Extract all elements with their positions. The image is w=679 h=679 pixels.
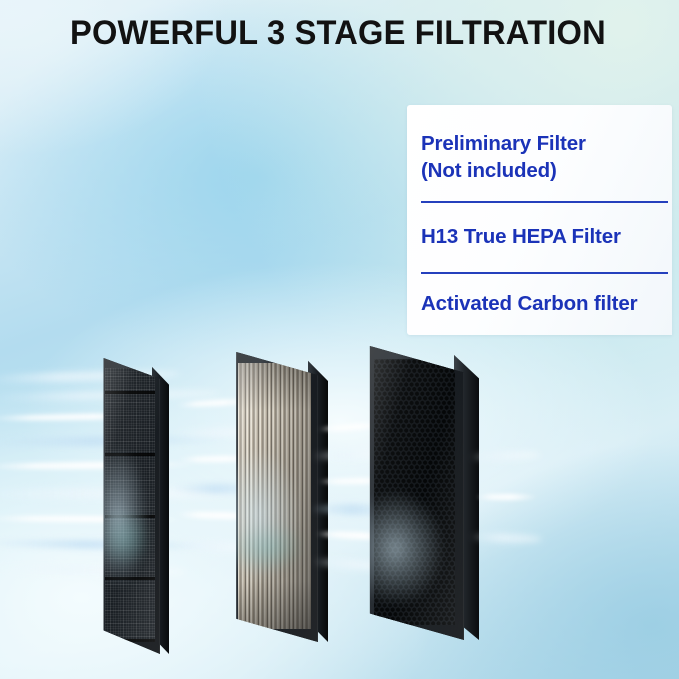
page-title: POWERFUL 3 STAGE FILTRATION (70, 14, 606, 53)
filter-stage-preliminary (100, 358, 178, 654)
filter-face-preliminary (100, 358, 160, 654)
legend-row-preliminary: Preliminary Filter (Not included) (421, 130, 666, 184)
filter-stage-hepa (232, 352, 338, 642)
filtration-infographic: POWERFUL 3 STAGE FILTRATION (0, 0, 679, 679)
mesh-texture (105, 368, 155, 642)
legend-row-hepa: H13 True HEPA Filter (421, 223, 666, 250)
pleated-media-texture (238, 363, 311, 629)
filter-stage-carbon (366, 346, 486, 640)
legend-row-preliminary-line1: Preliminary Filter (421, 130, 666, 157)
legend-divider-1 (421, 201, 668, 203)
filter-face-hepa (232, 352, 318, 642)
legend-row-preliminary-line2: (Not included) (421, 157, 666, 184)
legend-divider-2 (421, 272, 668, 274)
filter-stage-legend-panel: Preliminary Filter (Not included) H13 Tr… (407, 105, 672, 335)
honeycomb-media-texture (374, 359, 455, 625)
filter-face-carbon (366, 346, 464, 640)
legend-row-carbon: Activated Carbon filter (421, 290, 666, 317)
